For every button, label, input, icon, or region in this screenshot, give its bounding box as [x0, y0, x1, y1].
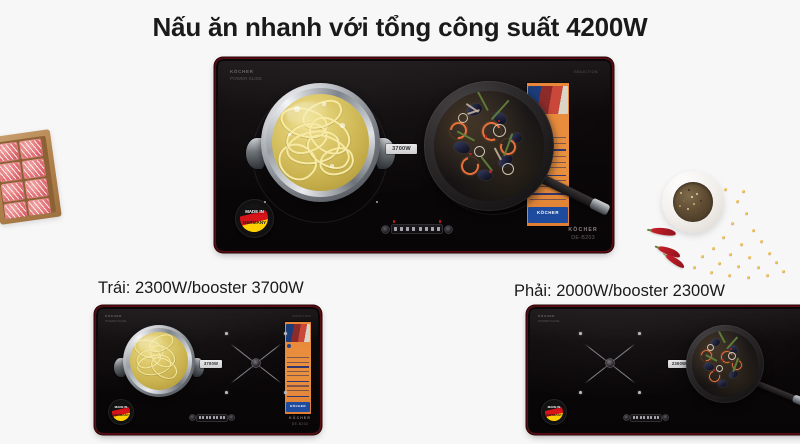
scattered-seed: [736, 200, 739, 203]
cross-end-dot: [579, 391, 582, 394]
cross-arm: [610, 363, 636, 384]
slider-indicator-right: [439, 220, 441, 223]
chili-flake: [489, 170, 492, 173]
cross-arm: [584, 363, 610, 384]
zone-power-value: 3700W: [200, 360, 222, 368]
sticker-brand-footer: KÖCHER: [286, 402, 310, 412]
scattered-seed: [766, 274, 769, 277]
wok-interior: [434, 91, 543, 200]
slider-segment[interactable]: [202, 416, 204, 419]
squid-ring: [707, 344, 714, 351]
sticker-text-line: [287, 385, 309, 386]
control-panel[interactable]: [382, 223, 452, 235]
main-cooktop: KÖCHER POWER SLIDE INDUCTION KÖCHER DE-B…: [216, 59, 612, 251]
slider-segment[interactable]: [412, 227, 415, 231]
slider-segment[interactable]: [419, 227, 422, 231]
mussel: [718, 379, 728, 387]
brand-name: KÖCHER: [568, 227, 598, 233]
brand-logo-top-left: KÖCHER POWER SLIDE: [538, 314, 560, 324]
sticker-text-line: [287, 375, 309, 376]
scattered-seed: [760, 240, 763, 243]
brand-name: KÖCHER: [230, 69, 254, 74]
lock-button[interactable]: [445, 226, 452, 233]
water-bubble: [330, 164, 334, 168]
slider-segment[interactable]: [199, 416, 201, 419]
scattered-seed: [747, 276, 750, 279]
squid-ring: [728, 352, 736, 360]
brand-model: DE-B203: [289, 422, 311, 427]
brand-tagline: POWER SLIDE: [105, 319, 127, 324]
slider-segment[interactable]: [647, 416, 649, 419]
water-bubble: [340, 123, 345, 128]
wok-contents-seafood: [692, 331, 758, 397]
left-cooktop: KÖCHER POWER SLIDE INDUCTION KÖCHER DE-B…: [96, 307, 320, 433]
chili-stem: [655, 246, 660, 249]
cross-end-dot: [225, 332, 228, 335]
left-zone-power-chip: 3700W: [386, 144, 417, 154]
brand-logo-top-left: KÖCHER POWER SLIDE: [230, 69, 262, 83]
beef-roll: [0, 162, 22, 183]
spice-grain: [683, 200, 685, 202]
brand-label-top-right: INDUCTION: [574, 70, 598, 74]
brand-logo-top-left: KÖCHER POWER SLIDE: [105, 314, 127, 324]
water-highlight: [138, 336, 165, 351]
cross-end-dot: [638, 332, 641, 335]
scattered-seed: [748, 256, 751, 259]
power-level-slider[interactable]: [197, 415, 227, 421]
beef-roll: [22, 158, 46, 179]
right-cooktop: KÖCHER POWER SLIDE MADE IN GERMANY 2300W: [528, 307, 800, 433]
cross-end-dot: [225, 391, 228, 394]
wok-contents-seafood: [434, 91, 543, 200]
slider-segment[interactable]: [209, 416, 211, 419]
slider-segment[interactable]: [650, 416, 652, 419]
cooking-wok: [424, 81, 554, 211]
cooking-pot: [123, 325, 195, 397]
brand-model: DE-B203: [568, 234, 598, 242]
cross-end-dot: [284, 391, 287, 394]
brand-logo-bottom-right: KÖCHER DE-B203: [568, 226, 598, 242]
spice-grain: [687, 208, 689, 210]
pot-contents-pasta: [272, 94, 368, 190]
scattered-seed: [757, 266, 760, 269]
scattered-seed: [701, 255, 704, 258]
badge-bottom-text: GERMANY: [109, 414, 133, 417]
cross-end-dot: [284, 332, 287, 335]
slider-segment[interactable]: [206, 416, 208, 419]
spice-grain: [679, 205, 681, 207]
cross-arm: [230, 363, 256, 384]
scattered-seed: [768, 252, 771, 255]
slider-segment[interactable]: [223, 416, 225, 419]
control-panel[interactable]: [190, 413, 234, 422]
squid-ring: [474, 146, 485, 157]
spice-grain: [680, 192, 682, 194]
chili-flake: [485, 135, 488, 138]
slider-indicator-left: [393, 220, 395, 223]
brand-logo-bottom-right: KÖCHER DE-B203: [289, 416, 311, 427]
scattered-seed: [729, 253, 732, 256]
brand-name: KÖCHER: [538, 314, 555, 318]
slider-segment[interactable]: [431, 227, 434, 231]
sticker-text-line: [287, 357, 309, 358]
slider-segment[interactable]: [437, 227, 440, 231]
slider-segment[interactable]: [400, 227, 403, 231]
chili-stem: [647, 229, 652, 231]
german-flag-icon: [237, 201, 271, 235]
made-in-germany-badge: MADE IN GERMANY: [109, 400, 133, 424]
scattered-seed: [752, 229, 755, 232]
beef-roll: [0, 142, 20, 163]
slider-segment[interactable]: [425, 227, 428, 231]
scattered-seed: [745, 212, 748, 215]
brand-name: KÖCHER: [105, 314, 122, 318]
sticker-text-line: [287, 366, 309, 367]
spice-grain: [693, 203, 695, 205]
scattered-seed: [718, 262, 721, 265]
badge-top-text: MADE IN: [109, 406, 133, 409]
badge-bottom-text: GERMANY: [542, 414, 566, 417]
chili-flake: [469, 153, 472, 156]
scattered-seed: [737, 265, 740, 268]
scattered-seed: [775, 261, 778, 264]
wok-interior: [692, 331, 758, 397]
power-level-slider[interactable]: [392, 225, 442, 233]
brand-name: KÖCHER: [289, 416, 311, 420]
cross-arm: [256, 363, 282, 384]
scattered-seed: [742, 190, 745, 193]
slider-segment[interactable]: [636, 416, 638, 419]
spice-grain: [696, 193, 698, 195]
made-in-germany-badge: MADE IN GERMANY: [236, 200, 273, 237]
squid-ring: [502, 163, 514, 175]
cooking-pot: [261, 83, 380, 202]
sticker-text-line: [287, 396, 309, 397]
badge-bottom-text: GERMANY: [236, 221, 273, 226]
made-in-germany-badge: MADE IN GERMANY: [542, 400, 566, 424]
sliced-beef-tray: [0, 129, 62, 225]
scattered-seed: [782, 270, 785, 273]
slider-segment[interactable]: [657, 416, 659, 419]
power-button[interactable]: [190, 415, 195, 420]
lock-button[interactable]: [229, 415, 234, 420]
sticker-text-line: [287, 381, 309, 382]
spice-grain: [688, 189, 690, 191]
brand-label-top-right: INDUCTION: [292, 315, 311, 318]
slider-segment[interactable]: [220, 416, 222, 419]
cooking-wok: [686, 325, 764, 403]
spice-grain: [695, 211, 697, 213]
water-bubble: [288, 133, 291, 136]
slider-segment[interactable]: [643, 416, 645, 419]
scattered-seed: [722, 236, 725, 239]
zone-power-chip: 3700W: [200, 360, 222, 368]
left-zone-cross-marking: [576, 329, 644, 397]
cross-hub: [252, 359, 260, 367]
cross-hub: [606, 359, 614, 367]
sticker-text-line: [287, 362, 309, 363]
slider-segment[interactable]: [394, 227, 397, 231]
slider-segment[interactable]: [213, 416, 215, 419]
badge-top-text: MADE IN: [236, 210, 273, 214]
scattered-seed: [740, 243, 743, 246]
cross-end-dot: [638, 391, 641, 394]
cross-end-dot: [579, 332, 582, 335]
lock-button[interactable]: [663, 415, 668, 420]
beef-roll: [1, 181, 25, 202]
scattered-seed: [728, 274, 731, 277]
bowl-contents-spices: [673, 182, 713, 222]
scattered-seed: [731, 222, 734, 225]
brand-tagline: POWER SLIDE: [230, 76, 262, 83]
squid-ring: [493, 124, 506, 137]
right-cooktop-label: Phải: 2000W/booster 2300W: [514, 282, 725, 301]
chili-stem: [663, 253, 668, 257]
badge-top-text: MADE IN: [542, 406, 566, 409]
sticker-text-line: [287, 390, 309, 391]
page-title: Nấu ăn nhanh với tổng công suất 4200W: [0, 12, 800, 43]
scattered-seed: [693, 266, 696, 269]
slider-segment[interactable]: [406, 227, 409, 231]
squid-ring: [716, 365, 723, 372]
brand-tagline: POWER SLIDE: [538, 319, 560, 324]
slider-segment[interactable]: [640, 416, 642, 419]
water-highlight: [286, 102, 330, 127]
scattered-seed: [712, 247, 715, 250]
sticker-text-line: [287, 371, 309, 372]
control-panel[interactable]: [624, 413, 668, 422]
power-button[interactable]: [382, 226, 389, 233]
pot-contents-pasta: [130, 332, 188, 390]
left-cooktop-label: Trái: 2300W/booster 3700W: [98, 279, 304, 298]
left-zone-power-value: 3700W: [386, 144, 417, 154]
spice-grain: [691, 196, 693, 198]
slider-segment[interactable]: [654, 416, 656, 419]
right-zone-cross-marking: [222, 329, 290, 397]
spice-bowl: [662, 171, 724, 233]
spice-grain: [700, 200, 702, 202]
power-level-slider[interactable]: [631, 415, 661, 421]
slider-segment[interactable]: [216, 416, 218, 419]
scattered-seed: [724, 188, 727, 191]
scattered-seed: [710, 271, 713, 274]
power-button[interactable]: [624, 415, 629, 420]
beef-roll: [19, 138, 43, 159]
beef-roll: [25, 178, 49, 199]
sticker-brand-name: KÖCHER: [286, 402, 310, 410]
slider-segment[interactable]: [633, 416, 635, 419]
